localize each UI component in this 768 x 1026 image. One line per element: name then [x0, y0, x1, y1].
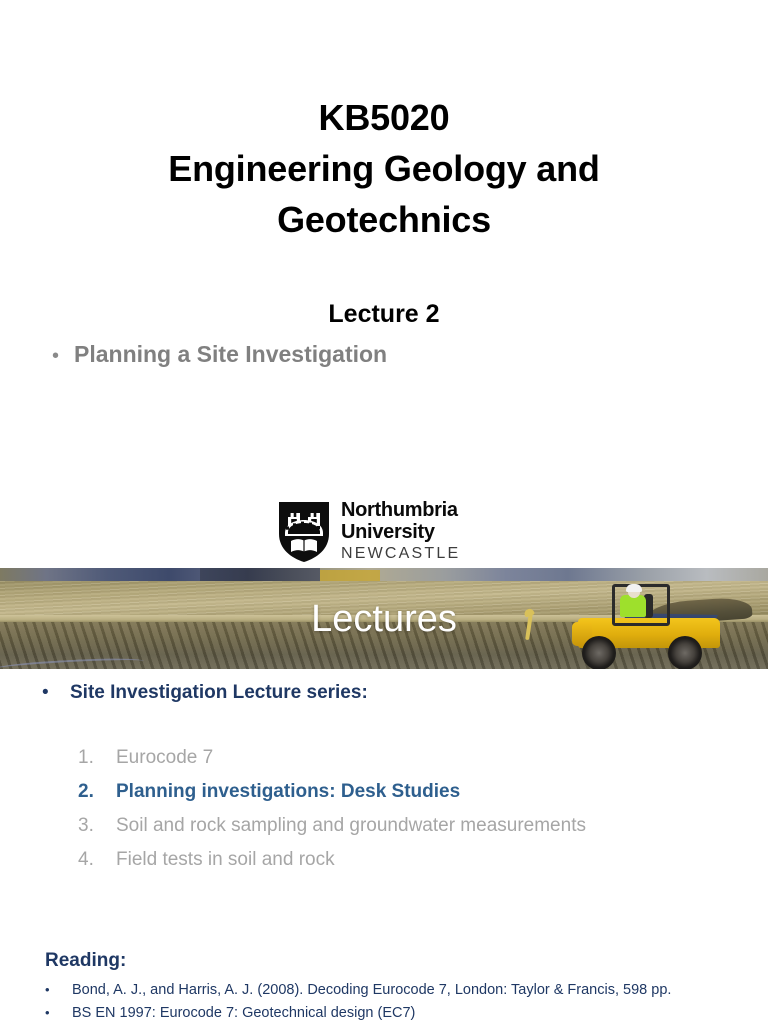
list-item[interactable]: 1. Eurocode 7 [78, 747, 738, 781]
list-item-label: Field tests in soil and rock [116, 849, 738, 871]
lecture-subtitle: Planning a Site Investigation [74, 341, 387, 368]
list-item[interactable]: 3. Soil and rock sampling and groundwate… [78, 815, 738, 849]
list-item-number: 3. [78, 815, 116, 837]
reading-reference: BS EN 1997: Eurocode 7: Geotechnical des… [72, 1002, 755, 1025]
bullet-icon: • [52, 346, 74, 366]
list-item-label: Planning investigations: Desk Studies [116, 781, 738, 803]
list-item-label: Soil and rock sampling and groundwater m… [116, 815, 738, 837]
university-logo: Northumbria University NEWCASTLE [277, 500, 509, 564]
distant-yellow-machinery [320, 570, 380, 581]
banner-caption: Lectures [0, 598, 768, 641]
list-item[interactable]: 4. Field tests in soil and rock [78, 849, 738, 883]
reading-list-item: • BS EN 1997: Eurocode 7: Geotechnical d… [45, 1002, 755, 1025]
page-title: KB5020 Engineering Geology and Geotechni… [64, 92, 704, 245]
list-item-number: 4. [78, 849, 116, 871]
series-heading: Site Investigation Lecture series: [70, 682, 368, 704]
lecture-series-list: 1. Eurocode 7 2. Planning investigations… [78, 747, 738, 883]
list-item-number: 1. [78, 747, 116, 769]
bullet-icon: • [45, 1002, 72, 1023]
list-item-label: Eurocode 7 [116, 747, 738, 769]
reading-reference: Bond, A. J., and Harris, A. J. (2008). D… [72, 979, 755, 1002]
castle-shield-with-open-book-icon [277, 500, 331, 564]
reading-list-item: • Bond, A. J., and Harris, A. J. (2008).… [45, 979, 755, 1002]
logo-wordmark: Northumbria University NEWCASTLE [341, 500, 460, 564]
bullet-icon: • [42, 683, 70, 702]
distant-machinery [200, 568, 320, 581]
series-heading-row: • Site Investigation Lecture series: [42, 682, 368, 704]
course-title-line-2: Engineering Geology and [64, 143, 704, 194]
content-section: • Site Investigation Lecture series: 1. … [0, 669, 768, 1024]
logo-line-northumbria: Northumbria [341, 500, 460, 522]
lectures-banner: Lectures [0, 568, 768, 669]
logo-line-newcastle: NEWCASTLE [341, 544, 460, 564]
course-title-line-3: Geotechnics [64, 194, 704, 245]
lecture-number: Lecture 2 [64, 300, 704, 329]
course-code: KB5020 [64, 92, 704, 143]
list-item-number: 2. [78, 781, 116, 803]
reading-section: Reading: • Bond, A. J., and Harris, A. J… [45, 950, 755, 1026]
list-item[interactable]: 2. Planning investigations: Desk Studies [78, 781, 738, 815]
lecture-subtitle-row: • Planning a Site Investigation [52, 341, 732, 368]
logo-line-university: University [341, 522, 460, 544]
bullet-icon: • [45, 979, 72, 1000]
title-section: KB5020 Engineering Geology and Geotechni… [0, 0, 768, 568]
operator-hard-hat [626, 584, 642, 592]
reading-title: Reading: [45, 950, 755, 972]
